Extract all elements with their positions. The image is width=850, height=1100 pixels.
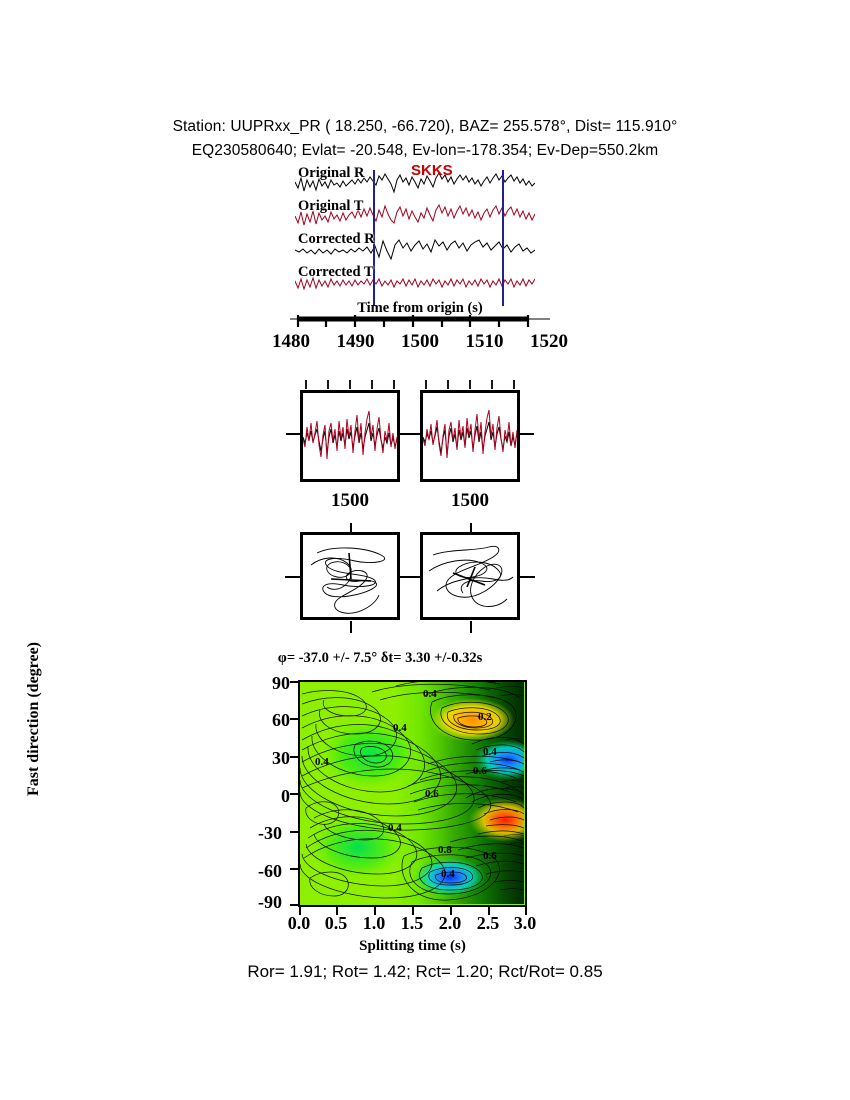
- time-tick-1480: 1480: [272, 331, 310, 353]
- contour-label-5: 0.6: [473, 765, 487, 777]
- contour-x-axis-label: Splitting time (s): [298, 938, 527, 955]
- contour-label-2: 0.2: [478, 711, 492, 723]
- contour-label-7: 0.6: [425, 788, 439, 800]
- trace-label-original-radial: Original R: [298, 165, 364, 182]
- trace-label-original-transverse: Original T: [298, 198, 363, 215]
- contour-label-3: 0.4: [393, 722, 407, 734]
- trace-corrected-transverse: Corrected T: [295, 265, 535, 299]
- ytick-mark-30: [290, 756, 298, 758]
- window-panel-uncorrected-curves: [303, 393, 397, 479]
- ytick-mark-60: [290, 718, 298, 720]
- ytick-neg60: -60: [238, 861, 282, 882]
- contour-label-11: 0.4: [441, 868, 455, 880]
- window-left-xlabel: 1500: [300, 490, 400, 512]
- page-title-line-1: Station: UUPRxx_PR ( 18.250, -66.720), B…: [0, 118, 850, 136]
- ytick-60: 60: [246, 710, 290, 731]
- time-tick-1520: 1520: [530, 331, 568, 353]
- time-tick-1490: 1490: [337, 331, 375, 353]
- window-panel-corrected-curves: [423, 393, 517, 479]
- hodogram-after-curve: [423, 535, 517, 617]
- contour-y-axis-label: Fast direction (degree): [25, 619, 43, 819]
- waveform-panel: SKKS Original R Original T Corrected R C…: [295, 166, 535, 311]
- page-title-line-2: EQ230580640; Evlat= -20.548, Ev-lon=-178…: [0, 142, 850, 160]
- hodogram-before-correction: [300, 532, 400, 620]
- contour-plot-title: φ= -37.0 +/- 7.5° δt= 3.30 +/-0.32s: [230, 650, 530, 667]
- phase-arrival-label: SKKS: [411, 162, 453, 179]
- window-right-axis-tick-right: [520, 433, 534, 435]
- contour-label-6: 0.4: [315, 756, 329, 768]
- contour-label-8: 0.4: [388, 822, 402, 834]
- window-right-top-ticks: [420, 380, 520, 389]
- ytick-mark-neg90: [290, 904, 298, 906]
- hodogram-after-correction: [420, 532, 520, 620]
- ytick-mark-90: [290, 681, 298, 683]
- window-left-top-ticks: [300, 380, 400, 389]
- ytick-0: 0: [246, 786, 290, 807]
- quality-metrics-footer: Ror= 1.91; Rot= 1.42; Rct= 1.20; Rct/Rot…: [0, 962, 850, 982]
- hodogram-left-axis-vertical-bottom: [350, 621, 352, 633]
- window-panel-uncorrected: [300, 390, 400, 482]
- ytick-neg90: -90: [238, 892, 282, 913]
- splitting-energy-contour-plot: 0.4 0.2 0.4 0.4 0.6 0.4 0.6 0.4 0.8 0.6 …: [298, 680, 527, 907]
- contour-label-4: 0.4: [483, 746, 497, 758]
- ytick-30: 30: [246, 748, 290, 769]
- window-left-axis-tick: [286, 433, 300, 435]
- window-panel-corrected: [420, 390, 520, 482]
- ytick-neg30: -30: [238, 823, 282, 844]
- trace-original-transverse: Original T: [295, 199, 535, 233]
- time-tick-1510: 1510: [466, 331, 504, 353]
- hodogram-before-curve: [303, 535, 397, 617]
- trace-label-corrected-radial: Corrected R: [298, 231, 375, 248]
- time-axis: Time from origin (s) 1480 1490 1500 1510…: [280, 305, 560, 360]
- window-end-marker: [502, 170, 504, 306]
- time-axis-tick-labels: 1480 1490 1500 1510 1520: [272, 331, 568, 353]
- xtick-label-30: 3.0: [502, 913, 548, 934]
- contour-label-1: 0.4: [423, 688, 437, 700]
- ytick-mark-neg30: [290, 831, 298, 833]
- time-axis-title: Time from origin (s): [280, 300, 560, 317]
- ytick-mark-0: [290, 793, 298, 795]
- hodogram-right-axis-vertical-bottom: [470, 621, 472, 633]
- contour-label-10: 0.6: [483, 850, 497, 862]
- trace-label-corrected-transverse: Corrected T: [298, 264, 374, 281]
- time-tick-1500: 1500: [401, 331, 439, 353]
- trace-corrected-radial: Corrected R: [295, 232, 535, 266]
- ytick-90: 90: [246, 673, 290, 694]
- contour-label-9: 0.8: [438, 844, 452, 856]
- window-right-axis-tick: [406, 433, 420, 435]
- window-right-xlabel: 1500: [420, 490, 520, 512]
- ytick-mark-neg60: [290, 868, 298, 870]
